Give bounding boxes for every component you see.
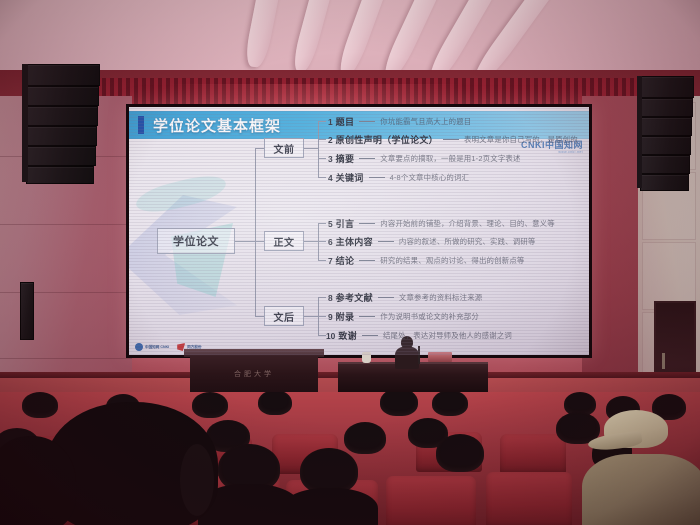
item-dash-icon <box>378 297 394 298</box>
item-description: 表明文章是你自己写的，是原创的 <box>464 134 578 145</box>
audience-head <box>258 392 292 415</box>
left-lower-speaker <box>20 282 34 340</box>
item-number: 2 <box>328 135 333 145</box>
item-label: 参考文献 <box>336 291 373 304</box>
item-label: 结论 <box>336 254 355 267</box>
item-dash-icon <box>443 139 459 140</box>
item-dash-icon <box>359 121 375 122</box>
item-label: 引言 <box>336 217 355 230</box>
diagram-connector <box>304 148 318 149</box>
diagram-branch-node-1: 正文 <box>264 231 304 251</box>
item-description: 4-8个文章中核心的词汇 <box>390 172 470 183</box>
item-dash-icon <box>362 335 378 336</box>
foreground-hair-wisp <box>180 444 214 516</box>
audience-head <box>344 422 386 454</box>
item-description: 结尾处，表达对导师及他人的感谢之词 <box>383 330 512 341</box>
right-line-array-speaker <box>640 76 694 191</box>
item-description: 文章参考的资料标注来源 <box>399 292 483 303</box>
audience-head <box>192 392 228 418</box>
theater-seat <box>486 472 572 525</box>
thesis-structure-diagram: 学位论文 文前 正文 文后 <box>129 107 589 355</box>
cap-person-torso <box>582 454 700 525</box>
diagram-item: 8 参考文献 文章参考的资料标注来源 <box>328 291 482 304</box>
audience-head <box>22 392 58 418</box>
item-label: 原创性声明（学位论文） <box>336 133 438 146</box>
diagram-connector <box>304 241 318 242</box>
diagram-connector <box>318 260 326 261</box>
item-number: 8 <box>328 293 333 303</box>
audience-head <box>436 434 484 472</box>
diagram-item: 9 附录 作为说明书或论文的补充部分 <box>328 310 479 323</box>
door-handle-icon <box>662 353 665 369</box>
diagram-connector <box>318 223 319 261</box>
diagram-connector <box>318 121 319 177</box>
left-line-array-speaker <box>26 64 100 184</box>
theater-seat <box>500 434 566 474</box>
item-label: 关键词 <box>336 171 364 184</box>
item-label: 致谢 <box>338 329 357 342</box>
diagram-connector <box>318 335 326 336</box>
item-number: 7 <box>328 256 333 266</box>
diagram-branch-node-2: 文后 <box>264 306 304 326</box>
diagram-item: 1 题目 你坑能霸气且高大上的题目 <box>328 115 471 128</box>
diagram-connector <box>318 121 326 122</box>
diagram-item: 6 主体内容 内容的叙述、所做的研究、实践、调研等 <box>328 235 536 248</box>
item-number: 6 <box>328 237 333 247</box>
diagram-connector <box>255 148 256 316</box>
diagram-connector <box>318 316 326 317</box>
item-dash-icon <box>359 260 375 261</box>
item-dash-icon <box>369 177 385 178</box>
diagram-connector <box>318 223 326 224</box>
diagram-connector <box>235 241 255 242</box>
audience-shoulders <box>282 488 378 525</box>
diagram-item: 4 关键词 4-8个文章中核心的词汇 <box>328 171 469 184</box>
item-description: 你坑能霸气且高大上的题目 <box>380 116 471 127</box>
item-label: 题目 <box>336 115 355 128</box>
podium-university-label: 合肥大学 <box>190 369 318 379</box>
diagram-connector <box>255 316 264 317</box>
item-dash-icon <box>359 316 375 317</box>
audience-head <box>432 392 468 416</box>
item-label: 附录 <box>336 310 355 323</box>
diagram-connector <box>318 158 326 159</box>
item-description: 研究的结果、观点的讨论、得出的创新点等 <box>380 255 524 266</box>
diagram-connector <box>318 297 326 298</box>
diagram-item: 5 引言 内容开始前的铺垫，介绍背景、理论、目的、意义等 <box>328 217 555 230</box>
item-number: 5 <box>328 219 333 229</box>
item-label: 摘要 <box>336 152 355 165</box>
diagram-branch-node-0: 文前 <box>264 138 304 158</box>
lecture-hall-photo: 学位论文基本框架 CNKI中国知网 www.cnki.net 学位论文 文前 正… <box>0 0 700 525</box>
diagram-connector <box>318 177 326 178</box>
diagram-item: 7 结论 研究的结果、观点的讨论、得出的创新点等 <box>328 254 525 267</box>
item-dash-icon <box>359 223 375 224</box>
theater-seat <box>386 476 476 525</box>
audience-head <box>380 392 418 416</box>
item-number: 9 <box>328 312 333 322</box>
item-dash-icon <box>359 158 375 159</box>
item-number: 1 <box>328 117 333 127</box>
item-number: 3 <box>328 154 333 164</box>
diagram-connector <box>255 241 264 242</box>
item-dash-icon <box>378 241 394 242</box>
item-description: 作为说明书或论文的补充部分 <box>380 311 479 322</box>
diagram-root-node: 学位论文 <box>157 228 235 254</box>
diagram-item: 3 摘要 文章要点的摘取，一般是用1-2页文字表述 <box>328 152 521 165</box>
item-description: 文章要点的摘取，一般是用1-2页文字表述 <box>380 153 520 164</box>
item-description: 内容的叙述、所做的研究、实践、调研等 <box>399 236 536 247</box>
diagram-connector <box>304 316 318 317</box>
audience-area <box>0 392 700 525</box>
slide-surface: 学位论文基本框架 CNKI中国知网 www.cnki.net 学位论文 文前 正… <box>129 107 589 355</box>
diagram-item: 2 原创性声明（学位论文） 表明文章是你自己写的，是原创的 <box>328 133 578 146</box>
diagram-connector <box>318 139 326 140</box>
diagram-item: 10 致谢 结尾处，表达对导师及他人的感谢之词 <box>326 329 512 342</box>
item-number: 4 <box>328 173 333 183</box>
diagram-connector <box>318 241 326 242</box>
item-label: 主体内容 <box>336 235 373 248</box>
projection-screen: 学位论文基本框架 CNKI中国知网 www.cnki.net 学位论文 文前 正… <box>126 104 592 358</box>
item-description: 内容开始前的铺垫，介绍背景、理论、目的、意义等 <box>380 218 555 229</box>
item-number: 10 <box>326 331 335 341</box>
